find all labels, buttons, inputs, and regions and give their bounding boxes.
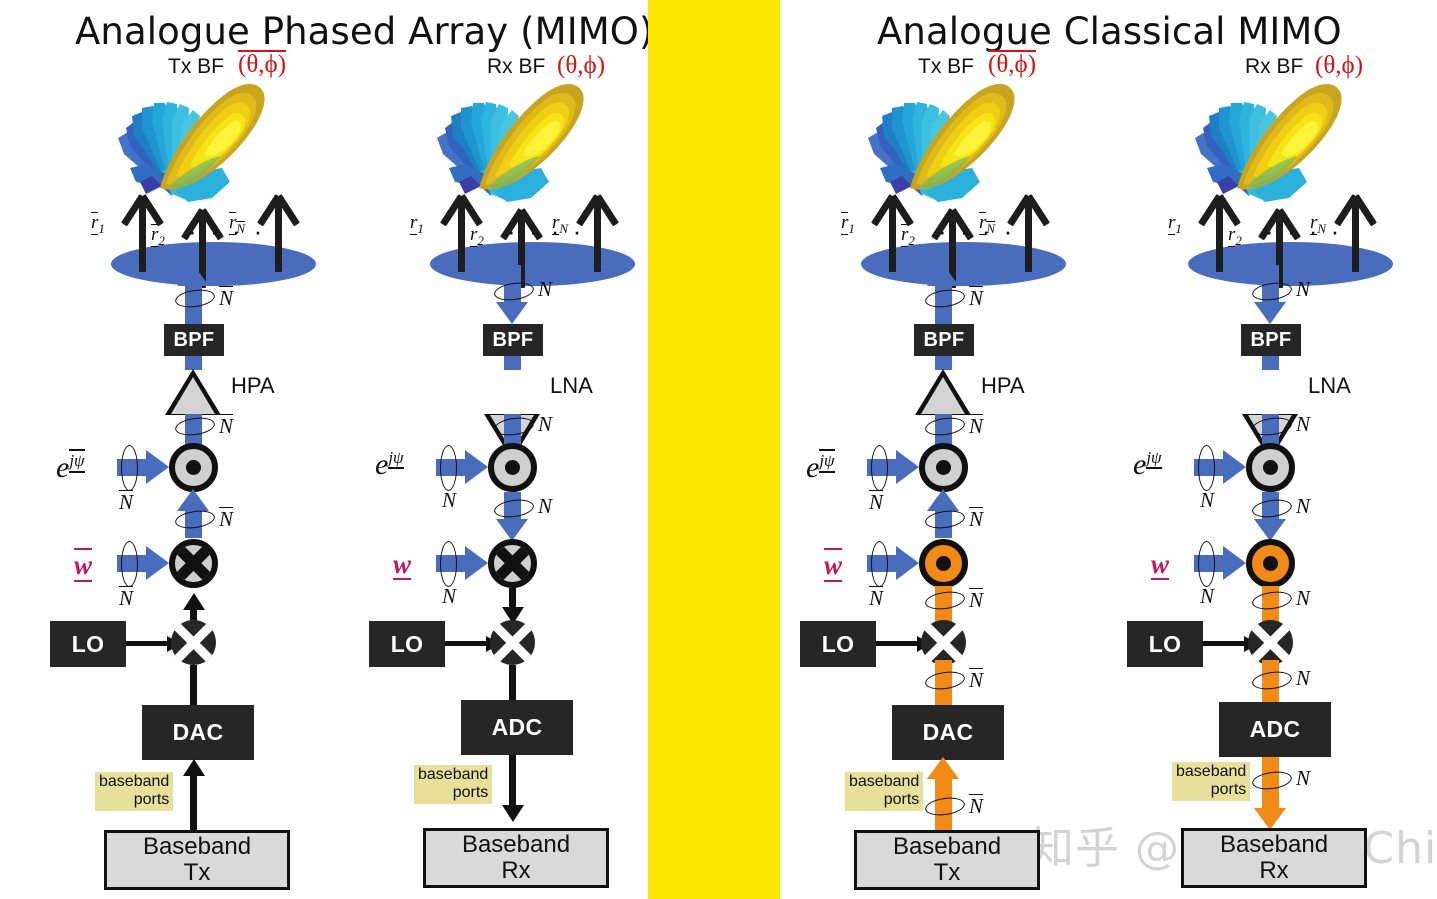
baseband-block: Baseband Tx: [104, 830, 290, 890]
bus-width-label: N: [219, 414, 233, 437]
bus-width-marker: [174, 508, 216, 530]
bus-width-label: N: [969, 794, 983, 817]
baseband-block: Baseband Rx: [1181, 828, 1367, 888]
tag-line-2: ports: [884, 791, 920, 808]
bus-width-label: N: [219, 286, 233, 309]
downconversion-mixer-node: [1248, 620, 1293, 665]
arrow-antenna-feed: [1254, 302, 1286, 324]
bus-width-marker: [924, 795, 966, 817]
tag-line-1: baseband: [99, 773, 169, 790]
weight-vector-label: w: [74, 548, 92, 582]
bus-width-marker: [1251, 769, 1293, 791]
bus-width-label: N: [1296, 414, 1310, 435]
antenna-label-2: r2: [470, 224, 484, 249]
hpa-amplifier-icon: [165, 369, 221, 415]
bus-bpf-amp: [935, 356, 952, 370]
adc-block: ADC: [461, 700, 573, 755]
weight-vector-label: w: [393, 550, 411, 580]
bpf-block: BPF: [914, 324, 974, 356]
bus-width-label: N: [219, 507, 233, 530]
bus-width-label: N: [538, 496, 552, 517]
antenna-label-2: r2: [151, 224, 165, 249]
lo-block: LO: [1127, 621, 1203, 667]
weight-combiner-node: [919, 539, 968, 588]
bus-width-label: N: [969, 588, 983, 611]
line-lo-mixer: [126, 641, 168, 646]
weight-vector-label: w: [824, 548, 842, 582]
tag-line-1: baseband: [418, 766, 488, 783]
baseband-line-1: Baseband: [893, 833, 1001, 860]
phase-shifter-node: [919, 443, 968, 492]
bus-width-marker: [121, 445, 138, 491]
bus-width-label: N: [969, 668, 983, 691]
bus-width-label: N: [442, 490, 456, 511]
bus-width-marker: [1251, 669, 1293, 691]
line-adc-baseband: [509, 755, 516, 807]
beam-pattern-icon: [100, 76, 290, 211]
phase-shift-label: ejψ: [375, 449, 404, 480]
weight-combiner-node: [169, 539, 218, 588]
arrow-weight-input: [896, 546, 919, 580]
chain-phased-array-rx: Rx BF (θ,ϕ): [342, 0, 682, 899]
arrow-baseband-dac: [927, 757, 959, 779]
baseband-block: Baseband Rx: [423, 828, 609, 888]
bus-width-marker: [440, 445, 457, 491]
bus-width-label: N: [969, 286, 983, 309]
arrow-phase-input: [1223, 450, 1246, 484]
bus-width-label: N: [1200, 586, 1214, 607]
arrow-mixer-weight: [183, 593, 205, 610]
tag-line-2: ports: [453, 784, 489, 801]
chain-classical-mimo-tx: Tx BF (θ,ϕ): [773, 0, 1113, 899]
bus-width-marker: [121, 541, 138, 587]
bus-width-marker: [871, 541, 888, 587]
bus-width-marker: [1198, 445, 1215, 491]
arrow-weight-input: [465, 546, 488, 580]
antenna-ellipsis: · · · ·: [507, 218, 584, 244]
antenna-label-1: r1: [1168, 212, 1182, 237]
hpa-label: HPA: [981, 373, 1025, 399]
steering-angle-label: (θ,ϕ): [988, 50, 1036, 79]
bus-width-label: N: [538, 279, 552, 300]
lo-block: LO: [800, 621, 876, 667]
bus-width-marker: [1251, 589, 1293, 611]
lna-label: LNA: [550, 373, 593, 399]
phase-shifter-node: [169, 443, 218, 492]
arrow-antenna-feed: [496, 302, 528, 324]
antenna-label-1: r1: [91, 212, 105, 237]
bus-width-marker: [1198, 541, 1215, 587]
bus-width-label: N: [1200, 490, 1214, 511]
bus-width-label: N: [119, 490, 133, 513]
antenna-label-2: r2: [901, 224, 915, 249]
bus-width-label: N: [969, 414, 983, 437]
lo-block: LO: [369, 621, 445, 667]
beam-pattern-icon: [850, 76, 1040, 211]
bpf-block: BPF: [1241, 324, 1301, 356]
baseband-line-1: Baseband: [1220, 831, 1328, 858]
baseband-line-1: Baseband: [462, 831, 570, 858]
arrow-phase-input: [465, 450, 488, 484]
bus-width-marker: [924, 589, 966, 611]
chain-phased-array-tx: Tx BF (θ,ϕ): [23, 0, 363, 899]
line-lo-mixer: [876, 641, 918, 646]
steering-angle-label: (θ,ϕ): [238, 50, 286, 79]
hpa-amplifier-icon: [915, 369, 971, 415]
bus-width-label: N: [1296, 668, 1310, 689]
weight-combiner-node: [488, 539, 537, 588]
arrow-baseband-dac: [183, 759, 205, 776]
bus-width-marker: [174, 287, 216, 309]
bus-width-marker: [440, 541, 457, 587]
arrow-weight-input: [146, 546, 169, 580]
arrow-antenna-feed: [177, 264, 209, 286]
line-lo-mixer: [445, 641, 487, 646]
arrow-phase-input: [146, 450, 169, 484]
baseband-line-2: Rx: [501, 857, 530, 884]
beam-pattern-icon: [1177, 76, 1367, 211]
baseband-line-2: Tx: [934, 859, 961, 886]
bus-width-marker: [924, 508, 966, 530]
bus-width-marker: [924, 415, 966, 437]
bus-bpf-amp: [185, 356, 202, 370]
phase-shifter-node: [488, 443, 537, 492]
arrow-phase-input: [896, 450, 919, 484]
hpa-label: HPA: [231, 373, 275, 399]
line-baseband-dac: [190, 775, 197, 832]
phase-shifter-node: [1246, 443, 1295, 492]
bus-width-label: N: [119, 586, 133, 609]
bus-width-label: N: [442, 586, 456, 607]
bus-width-label: N: [869, 490, 883, 513]
bus-width-label: N: [869, 586, 883, 609]
chain-classical-mimo-rx: Rx BF (θ,ϕ): [1100, 0, 1437, 899]
arrow-weight-input: [1223, 546, 1246, 580]
bus-width-label: N: [1296, 768, 1310, 789]
phase-shift-label: ejψ: [56, 449, 85, 483]
line-lo-mixer: [1203, 641, 1245, 646]
line-dac-mixer: [190, 665, 197, 707]
tag-line-1: baseband: [849, 773, 919, 790]
bus-width-marker: [493, 497, 535, 519]
dac-block: DAC: [892, 705, 1004, 760]
adc-block: ADC: [1219, 702, 1331, 757]
bus-width-label: N: [1296, 496, 1310, 517]
baseband-ports-tag: baseband ports: [1172, 762, 1250, 801]
bpf-block: BPF: [164, 324, 224, 356]
beam-pattern-icon: [419, 76, 609, 211]
tag-line-2: ports: [1211, 781, 1247, 798]
upconversion-mixer-node: [171, 620, 216, 665]
dac-block: DAC: [142, 705, 254, 760]
bus-width-marker: [924, 287, 966, 309]
weight-combiner-node: [1246, 539, 1295, 588]
antenna-label-1: r1: [841, 212, 855, 237]
line-mixer-adc: [509, 665, 516, 701]
bpf-block: BPF: [483, 324, 543, 356]
arrow-phase-weight: [927, 489, 959, 511]
bus-bpf-amp: [1262, 356, 1279, 370]
baseband-ports-tag: baseband ports: [845, 772, 923, 811]
weight-vector-label: w: [1151, 550, 1169, 580]
lna-label: LNA: [1308, 373, 1351, 399]
bus-bpf-amp: [504, 356, 521, 370]
downconversion-mixer-node: [490, 620, 535, 665]
arrow-phase-weight: [496, 519, 528, 541]
phase-shift-label: ejψ: [1133, 449, 1162, 480]
antenna-ellipsis: · · · ·: [188, 218, 265, 244]
baseband-line-1: Baseband: [143, 833, 251, 860]
antenna-ellipsis: · · · ·: [1265, 218, 1342, 244]
tag-line-1: baseband: [1176, 763, 1246, 780]
arrow-antenna-feed: [927, 264, 959, 286]
bus-width-label: N: [969, 507, 983, 530]
antenna-label-2: r2: [1228, 224, 1242, 249]
arrow-adc-baseband: [502, 805, 524, 822]
baseband-ports-tag: baseband ports: [95, 772, 173, 811]
baseband-line-2: Rx: [1259, 857, 1288, 884]
diagram-canvas: Analogue Phased Array (MIMO) Analogue Cl…: [0, 0, 1437, 899]
upconversion-mixer-node: [921, 620, 966, 665]
bus-width-marker: [174, 415, 216, 437]
lo-block: LO: [50, 621, 126, 667]
baseband-line-2: Tx: [184, 859, 211, 886]
baseband-block: Baseband Tx: [854, 830, 1040, 890]
baseband-ports-tag: baseband ports: [414, 765, 492, 804]
bus-width-marker: [1251, 497, 1293, 519]
antenna-label-1: r1: [410, 212, 424, 237]
bus-width-label: N: [1296, 279, 1310, 300]
bus-width-marker: [924, 669, 966, 691]
arrow-phase-weight: [177, 489, 209, 511]
bus-width-label: N: [538, 414, 552, 435]
phase-shift-label: ejψ: [806, 449, 835, 483]
tag-line-2: ports: [134, 791, 170, 808]
bus-width-label: N: [1296, 588, 1310, 609]
antenna-ellipsis: · · · ·: [938, 218, 1015, 244]
arrow-phase-weight: [1254, 519, 1286, 541]
bus-width-marker: [871, 445, 888, 491]
arrow-adc-baseband: [1254, 808, 1286, 830]
